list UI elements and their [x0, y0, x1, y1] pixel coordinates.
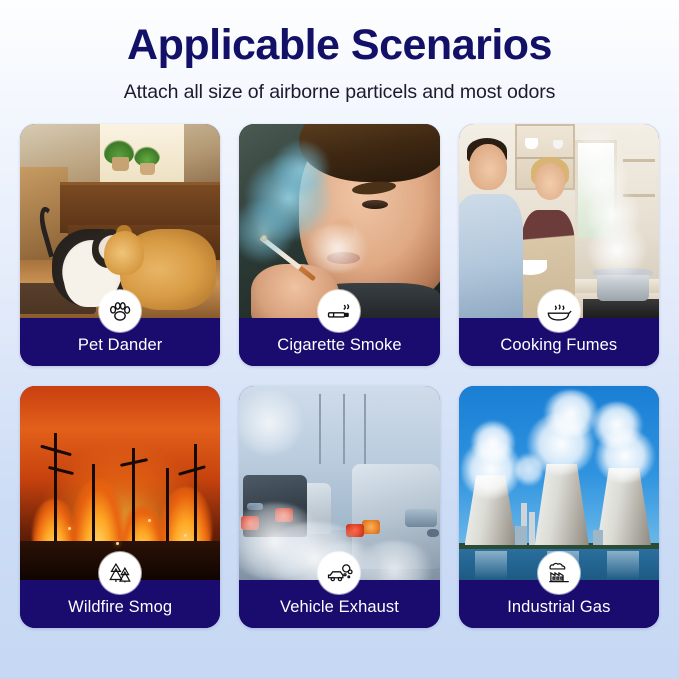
scenario-card-vehicle-exhaust[interactable]: Vehicle Exhaust [239, 386, 439, 628]
page-subtitle: Attach all size of airborne particels an… [20, 81, 659, 104]
paw-print-icon [99, 290, 141, 332]
scenario-grid: Pet Dander [20, 124, 659, 628]
steaming-pan-icon [538, 290, 580, 332]
scenario-photo-cigarette-smoke [239, 124, 439, 318]
scenario-photo-pet-dander [20, 124, 220, 318]
page-title: Applicable Scenarios [20, 23, 659, 68]
car-exhaust-icon [318, 552, 360, 594]
scenario-card-wildfire-smog[interactable]: Wildfire Smog [20, 386, 220, 628]
scenario-photo-vehicle-exhaust [239, 386, 439, 580]
applicable-scenarios-page: Applicable Scenarios Attach all size of … [0, 0, 679, 679]
scenario-card-pet-dander[interactable]: Pet Dander [20, 124, 220, 366]
header: Applicable Scenarios Attach all size of … [20, 0, 659, 104]
scenario-card-cooking-fumes[interactable]: Cooking Fumes [459, 124, 659, 366]
scenario-card-industrial-gas[interactable]: Industrial Gas [459, 386, 659, 628]
cigarette-icon [318, 290, 360, 332]
factory-smokestack-icon [538, 552, 580, 594]
scenario-photo-industrial-gas [459, 386, 659, 580]
scenario-card-cigarette-smoke[interactable]: Cigarette Smoke [239, 124, 439, 366]
burning-forest-icon [99, 552, 141, 594]
scenario-photo-wildfire-smog [20, 386, 220, 580]
scenario-photo-cooking-fumes [459, 124, 659, 318]
